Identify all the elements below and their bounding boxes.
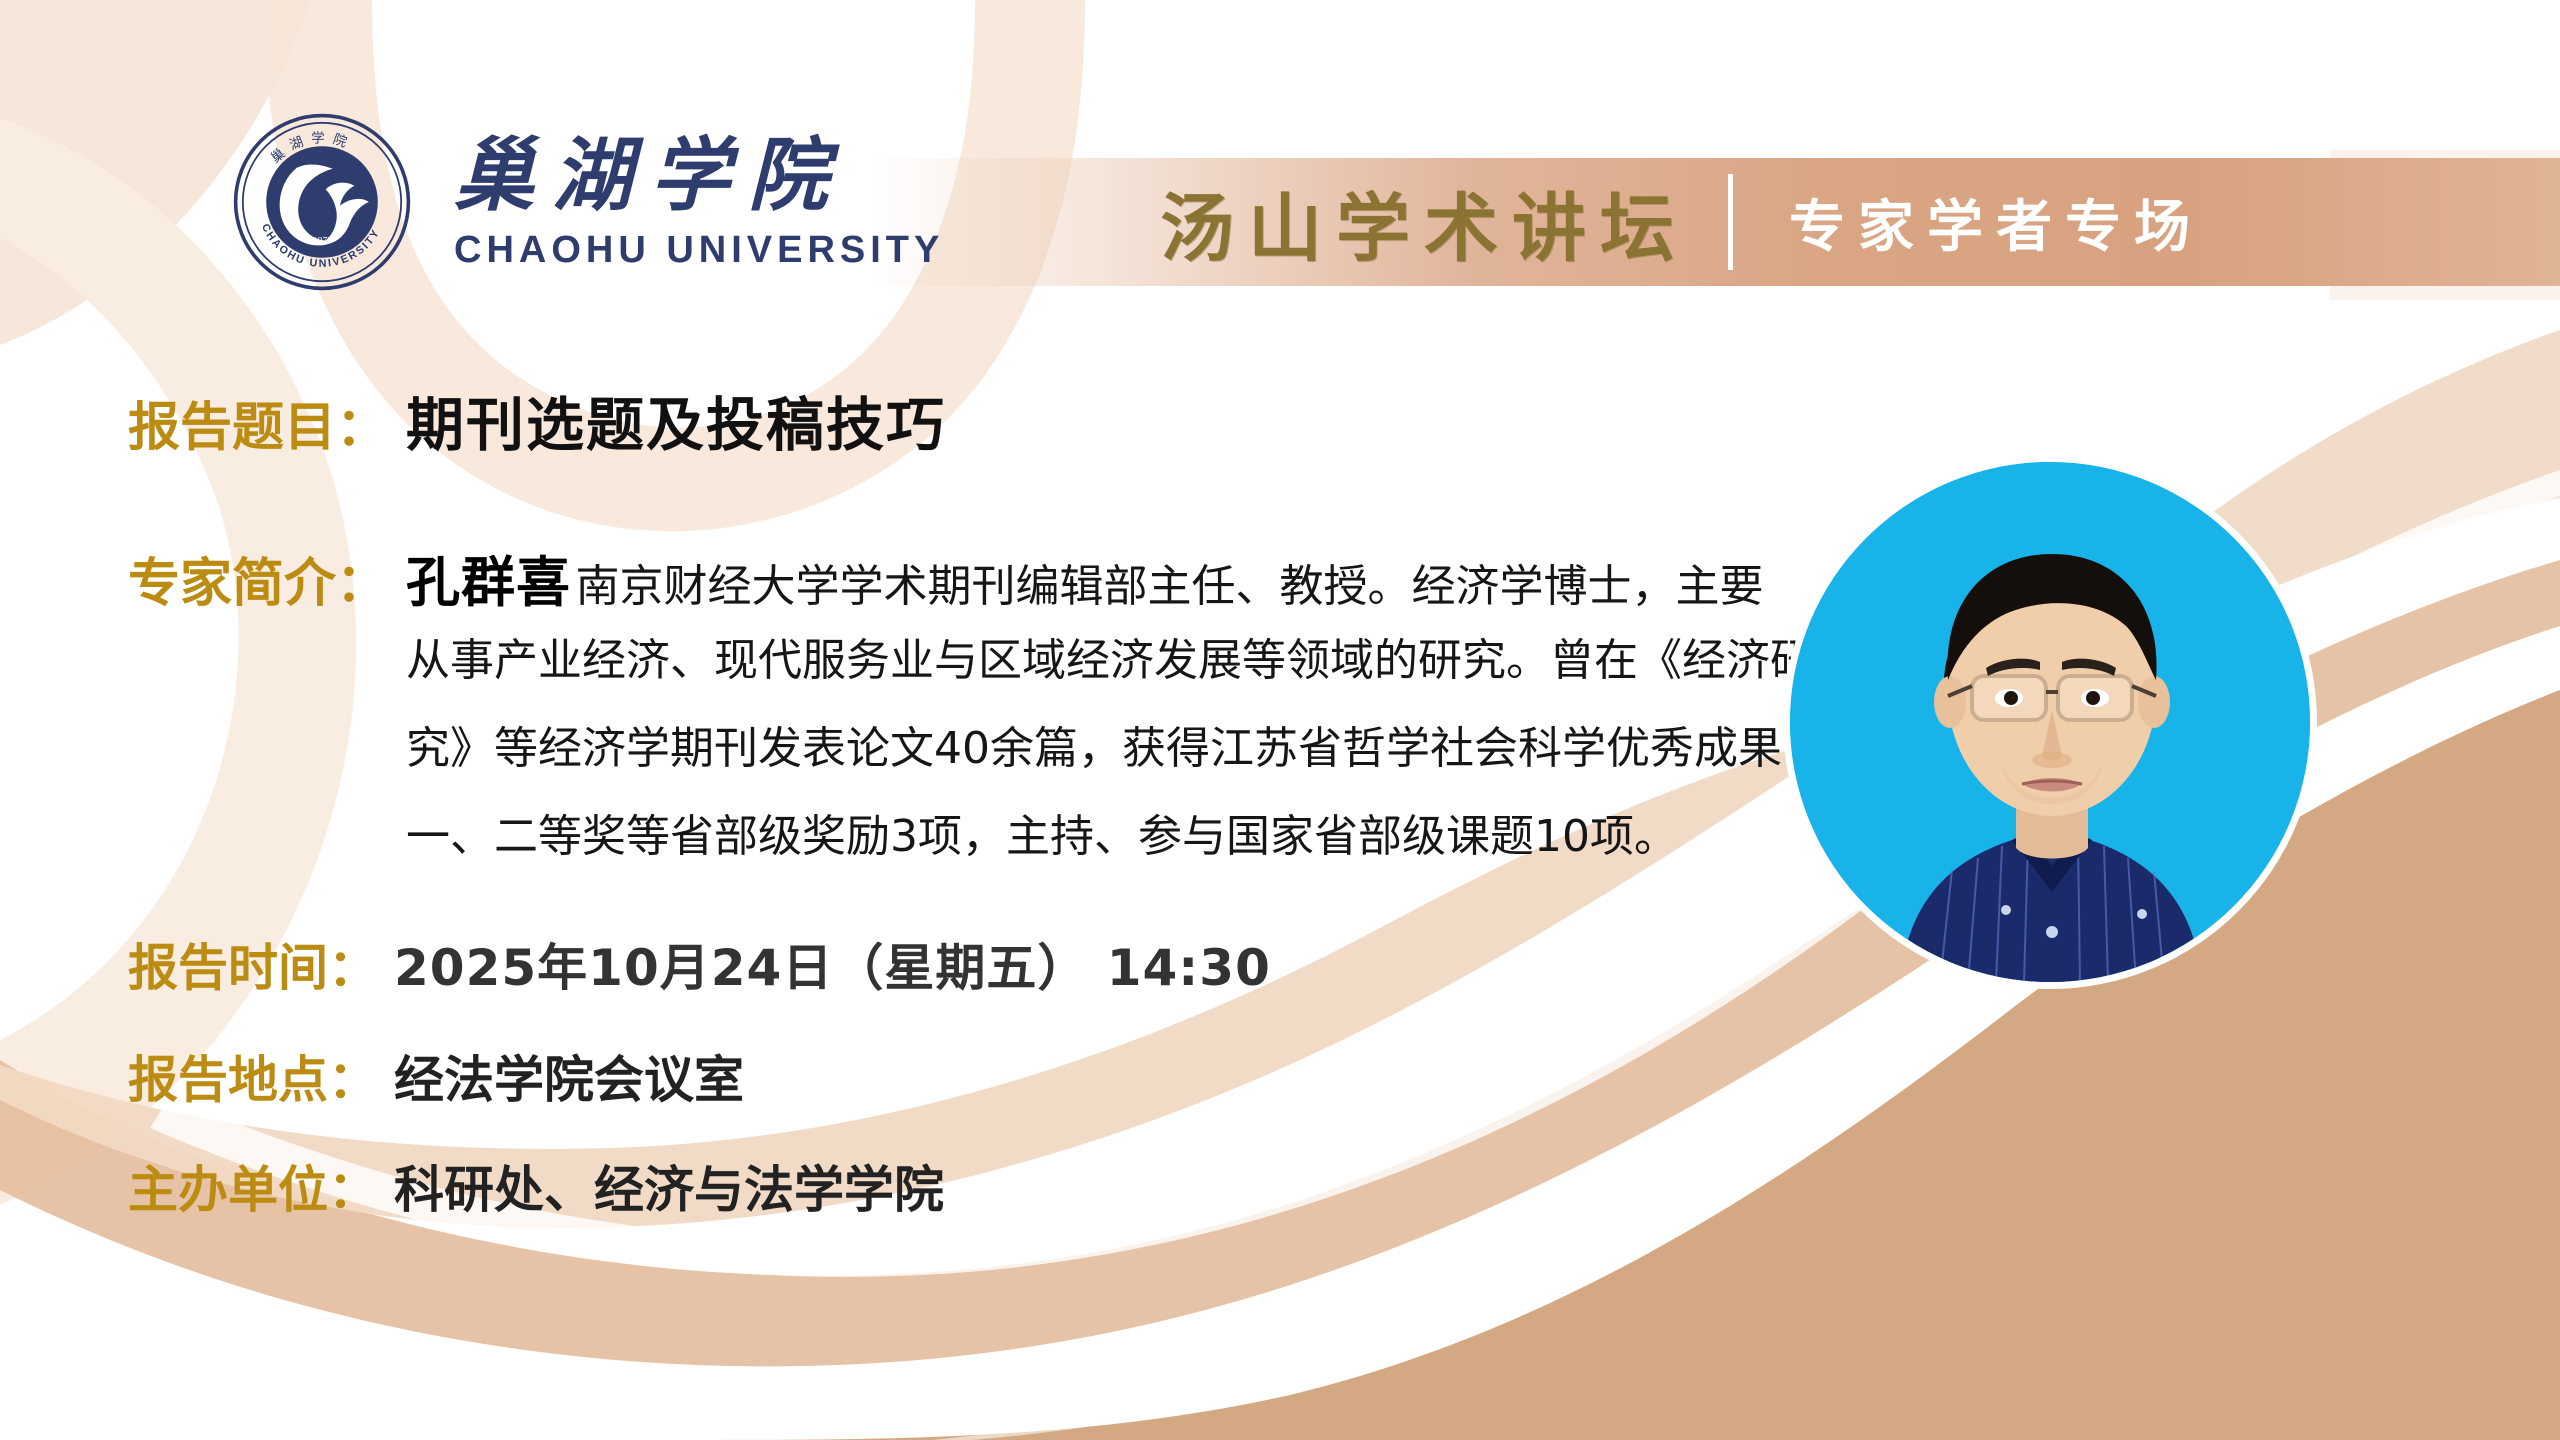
banner-main-title: 汤山学术讲坛 xyxy=(1160,169,1688,276)
speaker-bio-label: 专家简介： xyxy=(128,541,388,616)
speaker-portrait xyxy=(1790,462,2310,982)
report-time-value: 2025年10月24日（星期五） 14:30 xyxy=(394,928,1271,1000)
organizer-row: 主办单位： 科研处、经济与法学学院 xyxy=(128,1150,944,1222)
report-time-label: 报告时间： xyxy=(128,928,378,1000)
report-place-value: 经法学院会议室 xyxy=(394,1040,744,1112)
bio-line-4: 一、二等奖等省部级奖励3项，主持、参与国家省部级课题10项。 xyxy=(406,793,1706,881)
report-title-row: 报告题目： 期刊选题及投稿技巧 xyxy=(128,378,946,462)
poster-header: 汤山学术讲坛 专家学者专场 1977 巢湖学院 xyxy=(0,0,2560,330)
report-time-row: 报告时间： 2025年10月24日（星期五） 14:30 xyxy=(128,928,1271,1000)
report-title-label: 报告题目： xyxy=(128,385,388,460)
logo-name-en: CHAOHU UNIVERSITY xyxy=(454,231,944,269)
banner-subtitle: 专家学者专场 xyxy=(1789,182,2203,263)
logo-name-cn: 巢湖学院 xyxy=(454,135,944,215)
portrait-illustration xyxy=(1790,462,2310,982)
bio-line-2: 从事产业经济、现代服务业与区域经济发展等领域的研究。曾在《经济研 xyxy=(406,617,1706,705)
report-title-value: 期刊选题及投稿技巧 xyxy=(406,378,946,462)
logo-wordmark: 巢湖学院 CHAOHU UNIVERSITY xyxy=(454,135,944,269)
chaohu-university-seal-icon: 1977 巢湖学院 CHAOHU UNIVERSITY xyxy=(232,112,412,292)
speaker-bio-row: 专家简介： 孔群喜 南京财经大学学术期刊编辑部主任、教授。经济学博士，主要 从事… xyxy=(128,538,1706,881)
portrait-circle xyxy=(1790,462,2310,982)
bio-line-1: 南京财经大学学术期刊编辑部主任、教授。经济学博士，主要 xyxy=(575,562,1763,611)
speaker-name: 孔群喜 xyxy=(406,551,571,614)
svg-text:1977: 1977 xyxy=(312,235,333,246)
bio-first-line: 孔群喜 南京财经大学学术期刊编辑部主任、教授。经济学博士，主要 xyxy=(406,538,1706,617)
poster-canvas: 汤山学术讲坛 专家学者专场 1977 巢湖学院 xyxy=(0,0,2560,1440)
organizer-label: 主办单位： xyxy=(128,1150,378,1222)
report-place-row: 报告地点： 经法学院会议室 xyxy=(128,1040,744,1112)
bio-line-3: 究》等经济学期刊发表论文40余篇，获得江苏省哲学社会科学优秀成果 xyxy=(406,705,1706,793)
banner-divider xyxy=(1728,174,1733,270)
banner-strip: 汤山学术讲坛 专家学者专场 xyxy=(870,158,2560,286)
university-logo: 1977 巢湖学院 CHAOHU UNIVERSITY 巢湖学院 CHAOHU … xyxy=(232,112,944,292)
speaker-bio-body: 孔群喜 南京财经大学学术期刊编辑部主任、教授。经济学博士，主要 从事产业经济、现… xyxy=(406,538,1706,881)
organizer-value: 科研处、经济与法学学院 xyxy=(394,1150,944,1222)
report-place-label: 报告地点： xyxy=(128,1040,378,1112)
